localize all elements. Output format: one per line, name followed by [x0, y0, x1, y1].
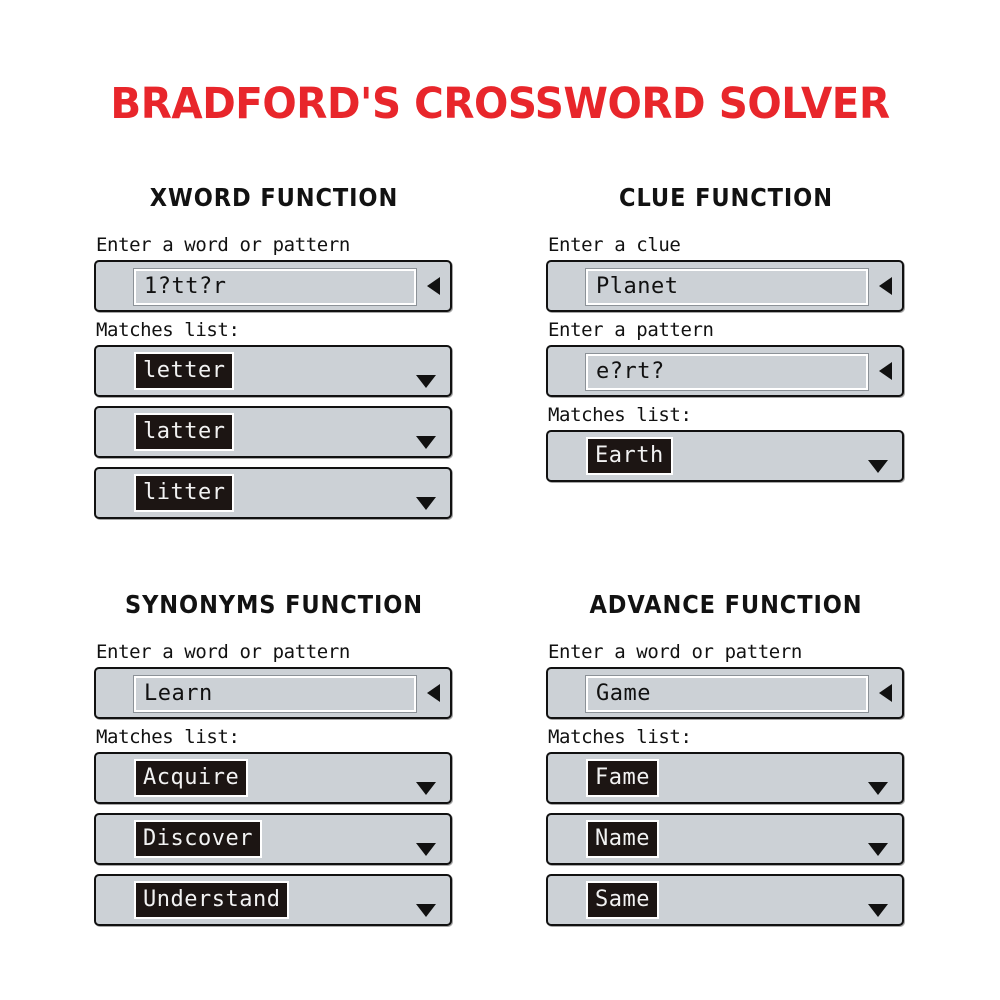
- match-row[interactable]: Acquire: [94, 752, 452, 804]
- panel-advance: ADVANCE FUNCTION Enter a word or pattern…: [546, 592, 906, 935]
- page-title: BRADFORD'S CROSSWORD SOLVER: [30, 83, 970, 126]
- match-row[interactable]: Discover: [94, 813, 452, 865]
- input-row-word-or-pattern[interactable]: 1?tt?r: [94, 260, 452, 312]
- input-value: Game: [596, 683, 651, 705]
- match-text: Earth: [595, 445, 664, 467]
- panel-title-clue: CLUE FUNCTION: [564, 185, 888, 210]
- advance-input[interactable]: Game: [586, 676, 868, 712]
- matches-list-label: Matches list:: [548, 728, 906, 747]
- synonyms-input[interactable]: Learn: [134, 676, 416, 712]
- input-value: e?rt?: [596, 361, 665, 383]
- chevron-down-icon[interactable]: [868, 904, 888, 917]
- match-chip[interactable]: Discover: [134, 820, 262, 858]
- match-row[interactable]: Name: [546, 813, 904, 865]
- match-text: Understand: [143, 889, 280, 911]
- match-row[interactable]: Fame: [546, 752, 904, 804]
- field-label-word-or-pattern: Enter a word or pattern: [548, 643, 906, 662]
- chevron-down-icon[interactable]: [416, 375, 436, 388]
- chevron-down-icon[interactable]: [868, 782, 888, 795]
- panel-xword: XWORD FUNCTION Enter a word or pattern 1…: [94, 185, 454, 528]
- panel-synonyms: SYNONYMS FUNCTION Enter a word or patter…: [94, 592, 454, 935]
- match-text: letter: [143, 360, 225, 382]
- chevron-down-icon[interactable]: [416, 843, 436, 856]
- chevron-down-icon[interactable]: [868, 843, 888, 856]
- match-row[interactable]: Same: [546, 874, 904, 926]
- match-text: Name: [595, 828, 650, 850]
- clue-input[interactable]: Planet: [586, 269, 868, 305]
- field-label-pattern: Enter a pattern: [548, 321, 906, 340]
- match-row[interactable]: Earth: [546, 430, 904, 482]
- match-row[interactable]: latter: [94, 406, 452, 458]
- match-chip[interactable]: latter: [134, 413, 234, 451]
- field-label-word-or-pattern: Enter a word or pattern: [96, 643, 454, 662]
- match-chip[interactable]: litter: [134, 474, 234, 512]
- search-input[interactable]: 1?tt?r: [134, 269, 416, 305]
- chevron-down-icon[interactable]: [416, 436, 436, 449]
- match-chip[interactable]: Earth: [586, 437, 673, 475]
- matches-list-label: Matches list:: [548, 406, 906, 425]
- panel-clue: CLUE FUNCTION Enter a clue Planet Enter …: [546, 185, 906, 491]
- chevron-down-icon[interactable]: [416, 904, 436, 917]
- match-chip[interactable]: letter: [134, 352, 234, 390]
- match-row[interactable]: letter: [94, 345, 452, 397]
- triangle-left-icon[interactable]: [427, 277, 440, 295]
- chevron-down-icon[interactable]: [416, 782, 436, 795]
- input-value: Planet: [596, 276, 678, 298]
- triangle-left-icon[interactable]: [879, 684, 892, 702]
- match-row[interactable]: Understand: [94, 874, 452, 926]
- match-chip[interactable]: Same: [586, 881, 659, 919]
- match-text: Fame: [595, 767, 650, 789]
- input-row-word-or-pattern[interactable]: Game: [546, 667, 904, 719]
- matches-list-label: Matches list:: [96, 321, 454, 340]
- triangle-left-icon[interactable]: [427, 684, 440, 702]
- field-label-word-or-pattern: Enter a word or pattern: [96, 236, 454, 255]
- match-text: latter: [143, 421, 225, 443]
- match-text: Same: [595, 889, 650, 911]
- triangle-left-icon[interactable]: [879, 277, 892, 295]
- field-label-clue: Enter a clue: [548, 236, 906, 255]
- match-chip[interactable]: Fame: [586, 759, 659, 797]
- input-value: Learn: [144, 683, 213, 705]
- triangle-left-icon[interactable]: [879, 362, 892, 380]
- panel-title-xword: XWORD FUNCTION: [112, 185, 436, 210]
- input-value: 1?tt?r: [144, 276, 226, 298]
- input-row-clue[interactable]: Planet: [546, 260, 904, 312]
- match-chip[interactable]: Name: [586, 820, 659, 858]
- input-row-word-or-pattern[interactable]: Learn: [94, 667, 452, 719]
- chevron-down-icon[interactable]: [868, 460, 888, 473]
- match-chip[interactable]: Acquire: [134, 759, 248, 797]
- match-row[interactable]: litter: [94, 467, 452, 519]
- matches-list-label: Matches list:: [96, 728, 454, 747]
- chevron-down-icon[interactable]: [416, 497, 436, 510]
- match-text: litter: [143, 482, 225, 504]
- match-chip[interactable]: Understand: [134, 881, 289, 919]
- panel-title-advance: ADVANCE FUNCTION: [564, 592, 888, 617]
- pattern-input[interactable]: e?rt?: [586, 354, 868, 390]
- panel-title-synonyms: SYNONYMS FUNCTION: [112, 592, 436, 617]
- match-text: Acquire: [143, 767, 239, 789]
- match-text: Discover: [143, 828, 253, 850]
- input-row-pattern[interactable]: e?rt?: [546, 345, 904, 397]
